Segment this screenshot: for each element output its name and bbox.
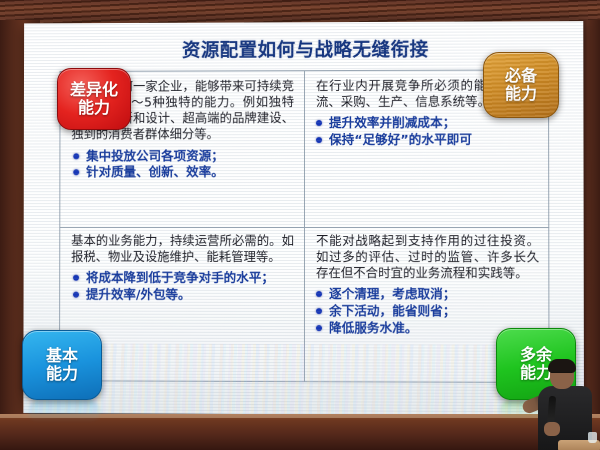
presenter-hair	[548, 359, 576, 373]
quadrant-bullet-list: 集中投放公司各项资源； 针对质量、创新、效率。	[71, 148, 294, 181]
badge-line-1: 基本	[46, 347, 78, 365]
badge-line-1: 差异化	[70, 81, 118, 99]
bullet-item: 提升效率/外包等。	[71, 287, 294, 303]
presenter-figure	[528, 356, 600, 450]
quadrant-paragraph: 基本的业务能力，持续运营所必需的。如报税、物业及设施维护、能耗管理等。	[71, 233, 294, 265]
quadrant-frame: 有别于任何一家企业，能够带来可持续竞争优势的3～5种独特的能力。例如独特的产品创…	[59, 69, 549, 383]
bullet-item: 余下活动，能省则省；	[314, 303, 539, 319]
presenter-glasses	[551, 372, 572, 376]
quadrant-bullet-list: 提升效率并削减成本； 保持“足够好”的水平即可	[314, 115, 539, 148]
bullet-item: 集中投放公司各项资源；	[71, 148, 294, 164]
page-title: 资源配置如何与战略无缝衔接	[182, 36, 429, 63]
presenter-hand	[544, 422, 560, 436]
water-cup	[588, 432, 597, 443]
badge-line-2: 能力	[46, 365, 78, 383]
quadrant-bullet-list: 将成本降到低于竞争对手的水平； 提升效率/外包等。	[71, 270, 294, 303]
stage-podium-edge	[0, 414, 600, 450]
bullet-item: 逐个清理，考虑取消；	[314, 286, 539, 302]
bullet-item: 将成本降到低于竞争对手的水平；	[71, 270, 294, 286]
badge-line-1: 必备	[505, 67, 537, 85]
slide-title-bar: 资源配置如何与战略无缝衔接	[131, 34, 481, 65]
bullet-item: 针对质量、创新、效率。	[71, 164, 294, 180]
badge-basic-capability: 基本 能力	[22, 330, 102, 400]
badge-line-2: 能力	[78, 99, 110, 117]
badge-must-have-capability: 必备 能力	[483, 52, 559, 118]
conference-photo-scene: 资源配置如何与战略无缝衔接 有别于任何一家企业，能够带来可持续竞争优势的3～5种…	[0, 0, 600, 450]
badge-differentiation-capability: 差异化 能力	[57, 68, 131, 130]
bullet-item: 保持“足够好”的水平即可	[314, 132, 539, 148]
badge-line-2: 能力	[505, 85, 537, 103]
quadrant-paragraph: 不能对战略起到支持作用的过往投资。如过多的评估、过时的监管、许多长久存在但不合时…	[314, 233, 539, 282]
